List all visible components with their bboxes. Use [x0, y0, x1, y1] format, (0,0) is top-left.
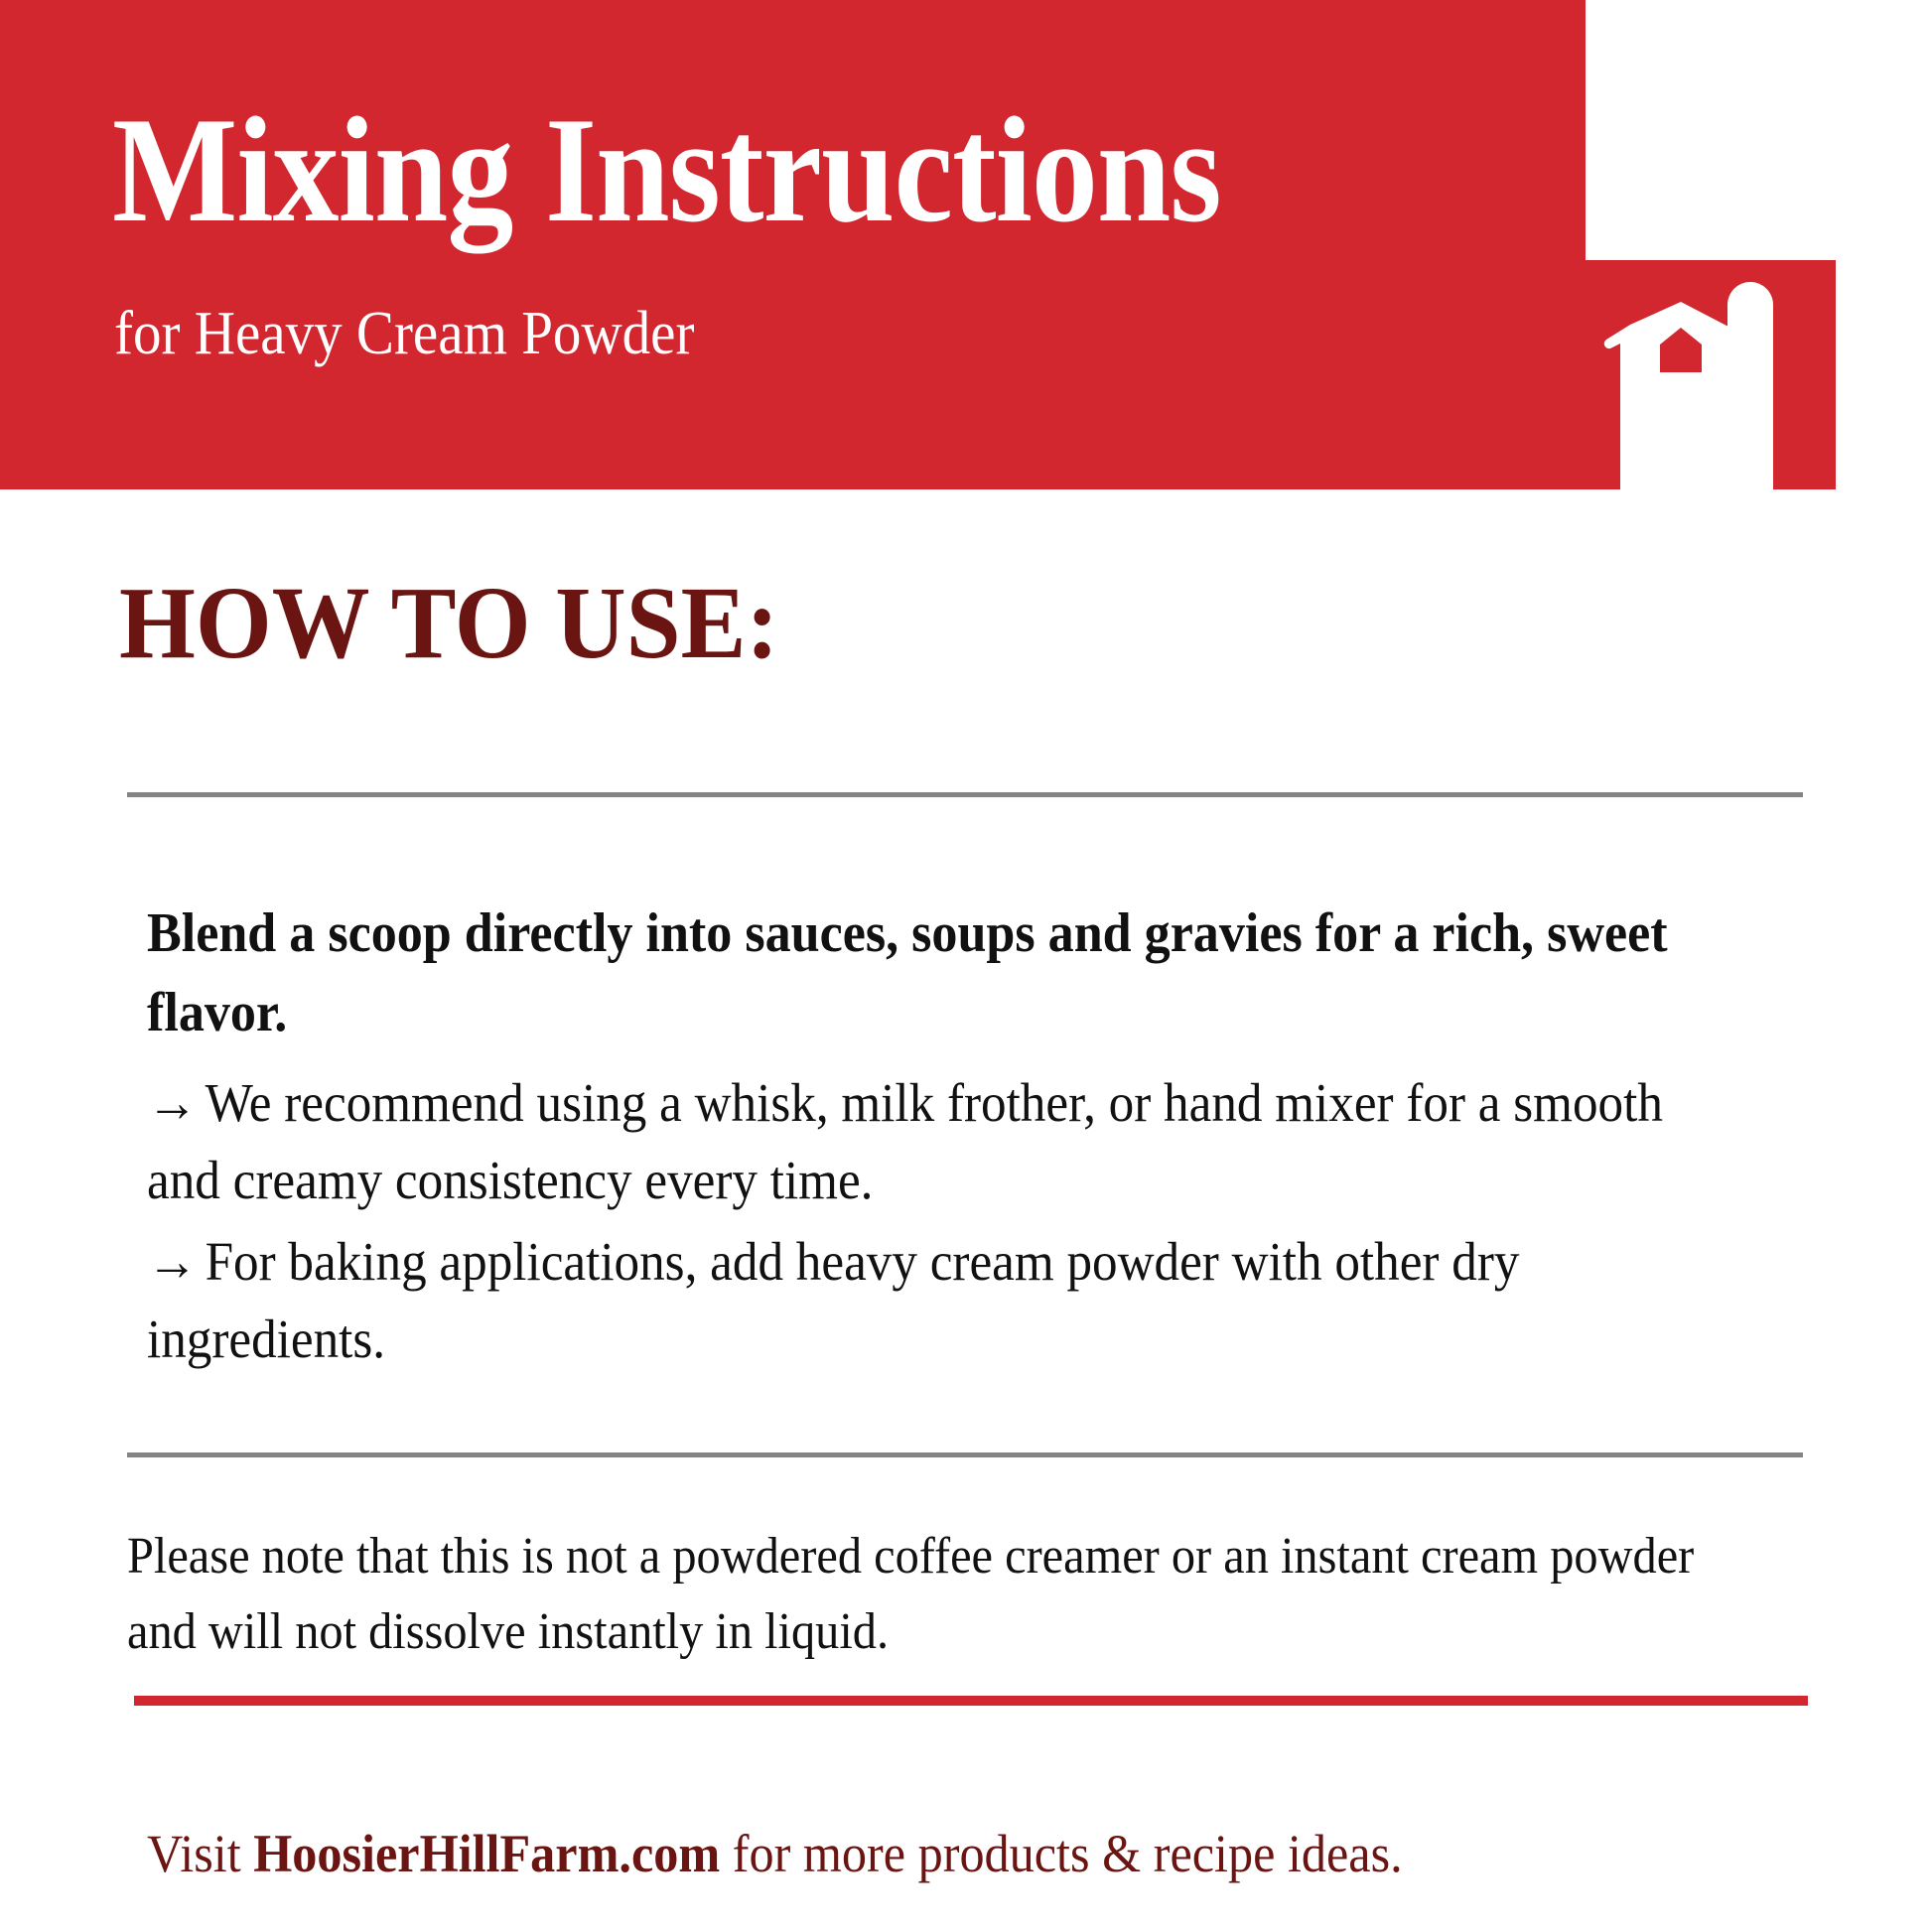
divider-bottom [127, 1452, 1803, 1457]
arrow-right-icon: → [147, 1231, 206, 1292]
footer-prefix: Visit [147, 1824, 253, 1883]
instruction-bullet-2-text: For baking applications, add heavy cream… [147, 1231, 1519, 1369]
section-heading: HOW TO USE: [119, 572, 778, 675]
instruction-bullet-1-text: We recommend using a whisk, milk frother… [147, 1072, 1663, 1210]
footer-website-link[interactable]: HoosierHillFarm.com [253, 1824, 720, 1883]
arrow-right-icon: → [147, 1072, 206, 1133]
mixing-instructions-card: Mixing Instructions for Heavy Cream Powd… [0, 0, 1932, 1932]
page-title: Mixing Instructions [112, 94, 1221, 245]
footer-cta: Visit HoosierHillFarm.com for more produ… [147, 1827, 1772, 1880]
lead-paragraph: Blend a scoop directly into sauces, soup… [147, 894, 1717, 1052]
divider-top [127, 792, 1803, 797]
divider-red-accent [134, 1696, 1808, 1706]
disclaimer-note: Please note that this is not a powdered … [127, 1519, 1725, 1670]
instruction-bullet-2: →For baking applications, add heavy crea… [147, 1223, 1735, 1378]
header-white-notch [1586, 0, 1836, 260]
header-white-right-margin [1836, 0, 1932, 489]
page-subtitle: for Heavy Cream Powder [114, 303, 694, 364]
barn-silo-icon [1586, 263, 1836, 489]
footer-suffix: for more products & recipe ideas. [720, 1824, 1402, 1883]
instruction-bullet-1: →We recommend using a whisk, milk frothe… [147, 1064, 1735, 1219]
